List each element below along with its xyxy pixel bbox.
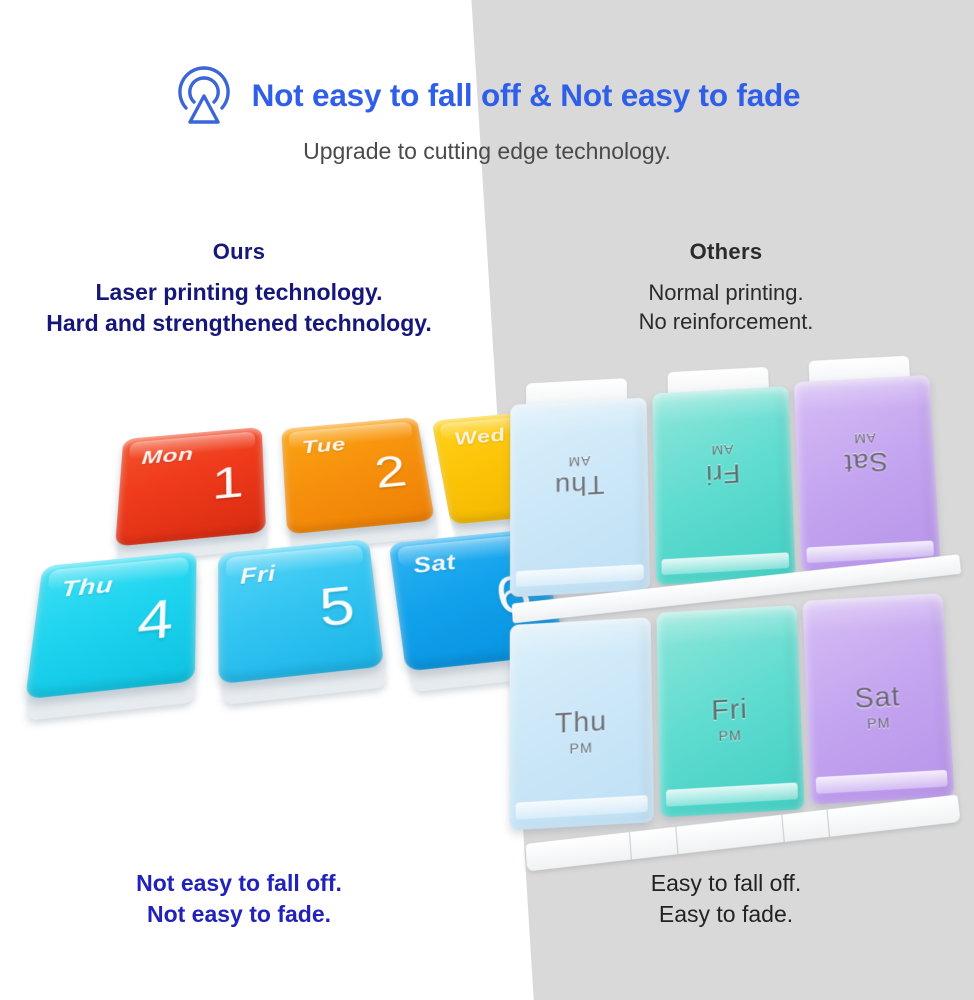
pill-cell-body — [509, 617, 654, 830]
ours-description-line2: Hard and strengthened technology. — [46, 310, 432, 336]
others-caption-line1: Easy to fall off. — [478, 868, 974, 899]
pill-cell-thu-am: Thu AM — [510, 390, 653, 604]
pill-cell-lid: Mon 1 — [115, 427, 266, 547]
column-others-heading: Others Normal printing. No reinforcement… — [478, 239, 974, 338]
pill-cell-lid: Thu 4 — [25, 551, 197, 699]
pill-cell-fri-pm: Fri PM — [656, 597, 808, 825]
ours-caption: Not easy to fall off. Not easy to fade. — [0, 868, 478, 930]
others-caption: Easy to fall off. Easy to fade. — [478, 868, 974, 930]
product-photo-ours: Mon 1 Tue 2 Wed 3 — [10, 360, 530, 830]
pill-cell-day-label: Sat — [411, 550, 457, 579]
comparison-infographic: Not easy to fall off & Not easy to fade … — [0, 0, 974, 1000]
pill-cell-day-label: Thu — [60, 572, 114, 603]
pill-cell-time-label: PM — [807, 711, 950, 735]
others-description: Normal printing. No reinforcement. — [478, 279, 974, 336]
pill-cell-time-label: PM — [659, 723, 802, 748]
pill-cell-label: Sat AM — [796, 427, 935, 481]
pill-cell-lid: Tue 2 — [281, 417, 435, 535]
pill-cell-tue: Tue 2 — [281, 416, 443, 550]
pill-cell-number-label: 1 — [212, 460, 244, 507]
pill-cell-number-label: 4 — [136, 592, 174, 650]
pill-cell-label: Fri PM — [658, 689, 802, 747]
pill-cell-body — [803, 593, 955, 805]
pill-cell-thu: Thu 4 — [22, 551, 202, 720]
pill-cell-thu-pm: Thu PM — [509, 609, 657, 838]
pill-cell-label: Thu AM — [510, 450, 648, 504]
laser-engraving-icon — [174, 62, 234, 128]
pill-cell-day-label: Fri — [240, 561, 277, 590]
pill-cell-base — [27, 569, 197, 721]
product-photo-others: Thu AM Fri AM Sat AM — [500, 355, 970, 835]
pill-organizer-ours: Mon 1 Tue 2 Wed 3 — [0, 409, 533, 810]
pill-organizer-others: Thu AM Fri AM Sat AM — [505, 361, 969, 830]
pill-cell-label: Thu PM — [510, 702, 653, 760]
column-ours-heading: Ours Laser printing technology. Hard and… — [0, 239, 478, 338]
pill-cell-day-label: Mon — [141, 443, 193, 469]
pill-cell-day-label: Fri — [658, 689, 801, 730]
pill-cell-day-label: Sat — [806, 677, 949, 718]
ours-description-line1: Laser printing technology. — [95, 279, 382, 305]
pill-cell-number-label: 2 — [372, 450, 409, 496]
others-caption-line2: Easy to fade. — [478, 899, 974, 930]
header: Not easy to fall off & Not easy to fade … — [0, 62, 974, 165]
bottom-captions: Not easy to fall off. Not easy to fade. … — [0, 868, 974, 930]
column-headings: Ours Laser printing technology. Hard and… — [0, 239, 974, 338]
pill-cell-fri-am: Fri AM — [652, 379, 799, 592]
pill-cell-lid: Fri 5 — [218, 539, 384, 684]
others-description-line2: No reinforcement. — [478, 308, 974, 337]
pill-cell-sat-pm: Sat PM — [802, 585, 958, 812]
pill-cell-body — [656, 605, 804, 817]
pill-cell-number-label: 5 — [318, 579, 358, 636]
others-title: Others — [478, 239, 974, 265]
pill-cell-mon: Mon 1 — [114, 426, 273, 562]
ours-caption-line2: Not easy to fade. — [0, 899, 478, 930]
pill-cell-label: Sat PM — [806, 677, 950, 735]
others-description-line1: Normal printing. — [478, 279, 974, 308]
subheadline: Upgrade to cutting edge technology. — [0, 138, 974, 165]
pill-cell-time-label: PM — [510, 736, 653, 761]
ours-description: Laser printing technology. Hard and stre… — [0, 277, 478, 338]
pill-cell-fri: Fri 5 — [218, 538, 393, 703]
pill-cell-day-label: Tue — [301, 434, 346, 459]
ours-caption-line1: Not easy to fall off. — [0, 868, 478, 899]
pill-cell-label: Fri AM — [653, 439, 792, 493]
pill-cell-day-label: Thu — [510, 702, 653, 743]
headline: Not easy to fall off & Not easy to fade — [252, 77, 801, 114]
pill-cell-sat-am: Sat AM — [794, 367, 945, 580]
ours-title: Ours — [0, 239, 478, 265]
